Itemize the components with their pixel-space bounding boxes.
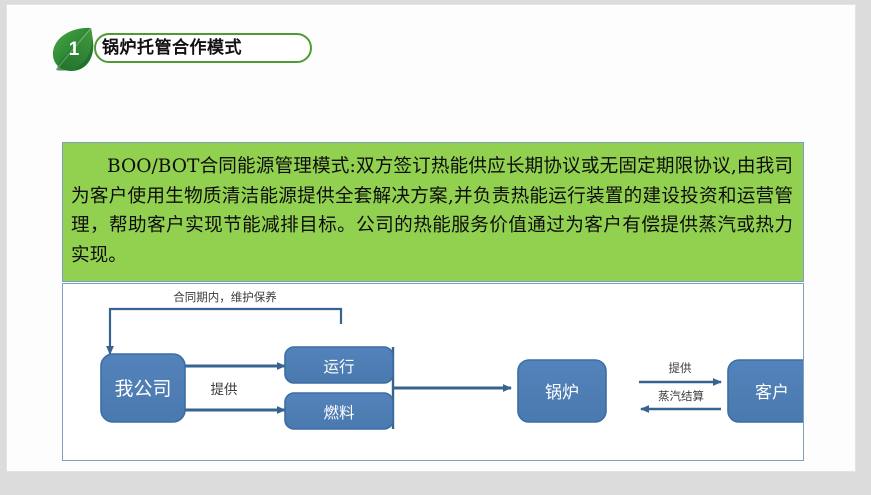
node-label-company: 我公司: [114, 378, 171, 400]
node-label-operation: 运行: [323, 358, 354, 376]
node-boiler[interactable]: 锅炉: [518, 360, 606, 422]
slide-root: 1 锅炉托管合作模式 BOO/BOT合同能源管理模式:双方签订热能供应长期协议或…: [0, 0, 871, 495]
edge-label-settlement: 蒸汽结算: [658, 389, 704, 403]
page-title: 锅炉托管合作模式: [102, 37, 242, 59]
node-label-boiler: 锅炉: [545, 383, 579, 403]
edge-label-maintenance: 合同期内，维护保养: [173, 290, 277, 304]
node-operation[interactable]: 运行: [285, 347, 393, 383]
edge-label-supply-right: 提供: [669, 361, 692, 375]
diagram-panel: 合同期内，维护保养 提供 提供 蒸汽: [62, 283, 804, 461]
node-label-customer: 客户: [755, 383, 789, 403]
node-label-fuel: 燃料: [323, 404, 354, 422]
badge-number: 1: [47, 24, 99, 74]
node-fuel[interactable]: 燃料: [285, 393, 393, 429]
process-flow-diagram: 合同期内，维护保养 提供 提供 蒸汽: [63, 284, 803, 460]
edge-to-boiler: [393, 347, 511, 429]
node-customer[interactable]: 客户: [728, 360, 803, 422]
slide-title-block: 1 锅炉托管合作模式: [44, 24, 324, 76]
callout-box: BOO/BOT合同能源管理模式:双方签订热能供应长期协议或无固定期限协议,由我司…: [62, 142, 804, 282]
callout-text: BOO/BOT合同能源管理模式:双方签订热能供应长期协议或无固定期限协议,由我司…: [71, 152, 793, 270]
edge-label-supply-left: 提供: [211, 382, 238, 398]
node-company[interactable]: 我公司: [101, 354, 185, 422]
